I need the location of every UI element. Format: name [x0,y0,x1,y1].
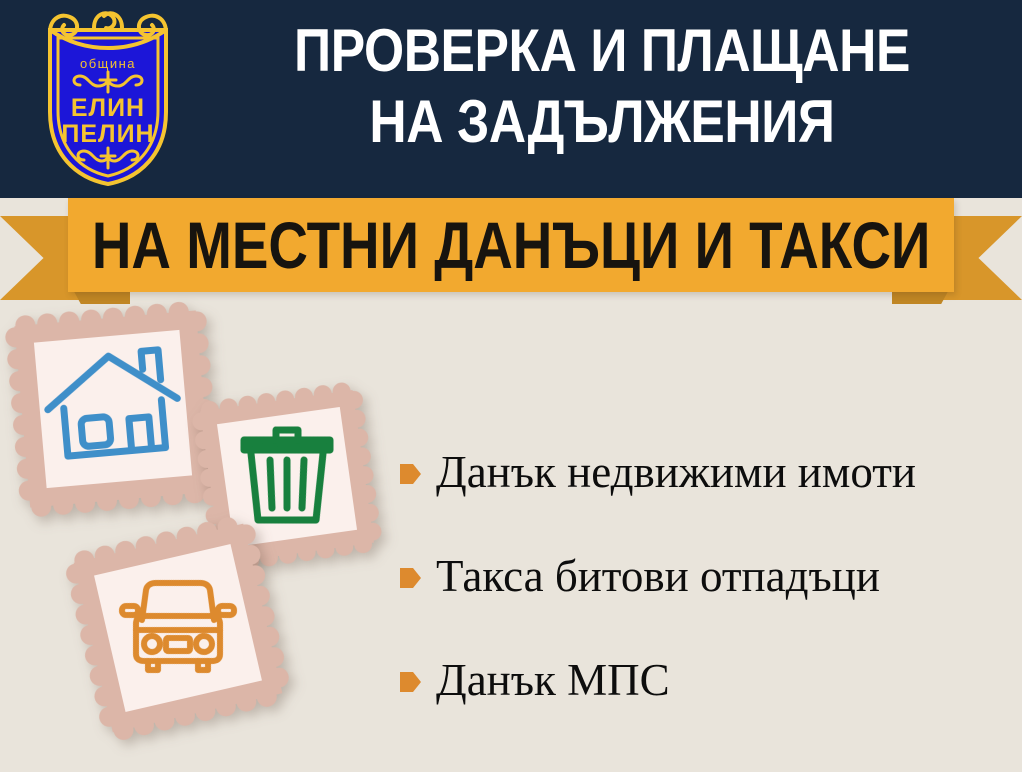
list-item-label: Данък недвижими имоти [436,450,916,495]
page-title-line-1: ПРОВЕРКА И ПЛАЩАНЕ [253,16,951,87]
arrow-bullet-icon [400,461,422,487]
arrow-bullet-icon [400,669,422,695]
stamp-illustration-group [0,300,400,772]
subtitle-ribbon: НА МЕСТНИ ДАНЪЦИ И ТАКСИ [0,198,1022,310]
logo-municipality-word: община [80,56,136,71]
list-item-label: Данък МПС [436,658,670,703]
page-title-line-2: НА ЗАДЪЛЖЕНИЯ [253,87,951,158]
logo-name-line-2: ПЕЛИН [61,120,154,148]
logo-name-line-1: ЕЛИН [71,94,145,122]
tax-types-list: Данък недвижими имоти Такса битови отпад… [400,420,1020,732]
arrow-bullet-icon [400,565,422,591]
elin-pelin-coat-of-arms-logo: община ЕЛИН ПЕЛИН [28,8,188,190]
list-item[interactable]: Данък МПС [400,628,1020,732]
list-item[interactable]: Данък недвижими имоти [400,420,1020,524]
list-item[interactable]: Такса битови отпадъци [400,524,1020,628]
list-item-label: Такса битови отпадъци [436,554,880,599]
page-title: ПРОВЕРКА И ПЛАЩАНЕ НА ЗАДЪЛЖЕНИЯ [253,16,951,158]
ribbon-subtitle-text: НА МЕСТНИ ДАНЪЦИ И ТАКСИ [92,212,931,278]
ribbon-center-panel: НА МЕСТНИ ДАНЪЦИ И ТАКСИ [68,198,954,292]
poster-canvas: община ЕЛИН ПЕЛИН ПРОВЕРКА И ПЛАЩАНЕ НА … [0,0,1022,772]
